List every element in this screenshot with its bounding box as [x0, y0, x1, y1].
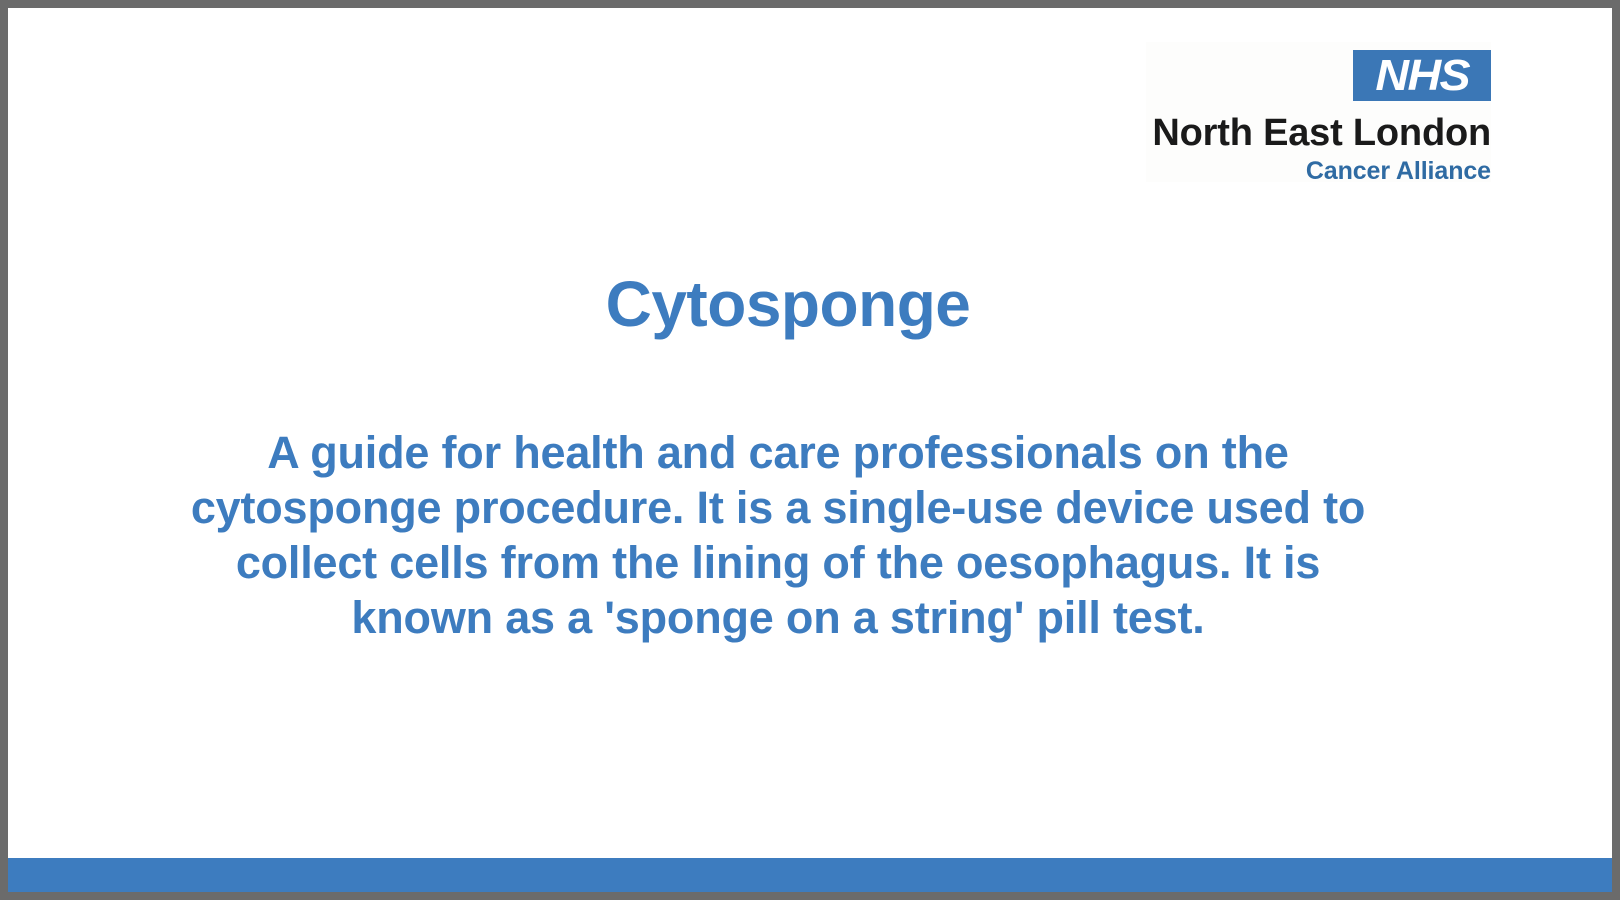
nhs-wordmark-text: NHS [1375, 54, 1469, 98]
slide-canvas: NHS North East London Cancer Alliance Cy… [8, 8, 1612, 892]
slide-frame: NHS North East London Cancer Alliance Cy… [0, 0, 1620, 900]
slide-title: Cytosponge [8, 269, 1568, 339]
slide-body-text: A guide for health and care professional… [188, 425, 1368, 645]
logo-organisation-name: North East London [1146, 114, 1491, 154]
logo-division-name: Cancer Alliance [1146, 158, 1491, 184]
footer-accent-bar [8, 858, 1612, 892]
nhs-logo-badge: NHS [1353, 50, 1491, 101]
nhs-cancer-alliance-logo: NHS North East London Cancer Alliance [1146, 42, 1491, 182]
